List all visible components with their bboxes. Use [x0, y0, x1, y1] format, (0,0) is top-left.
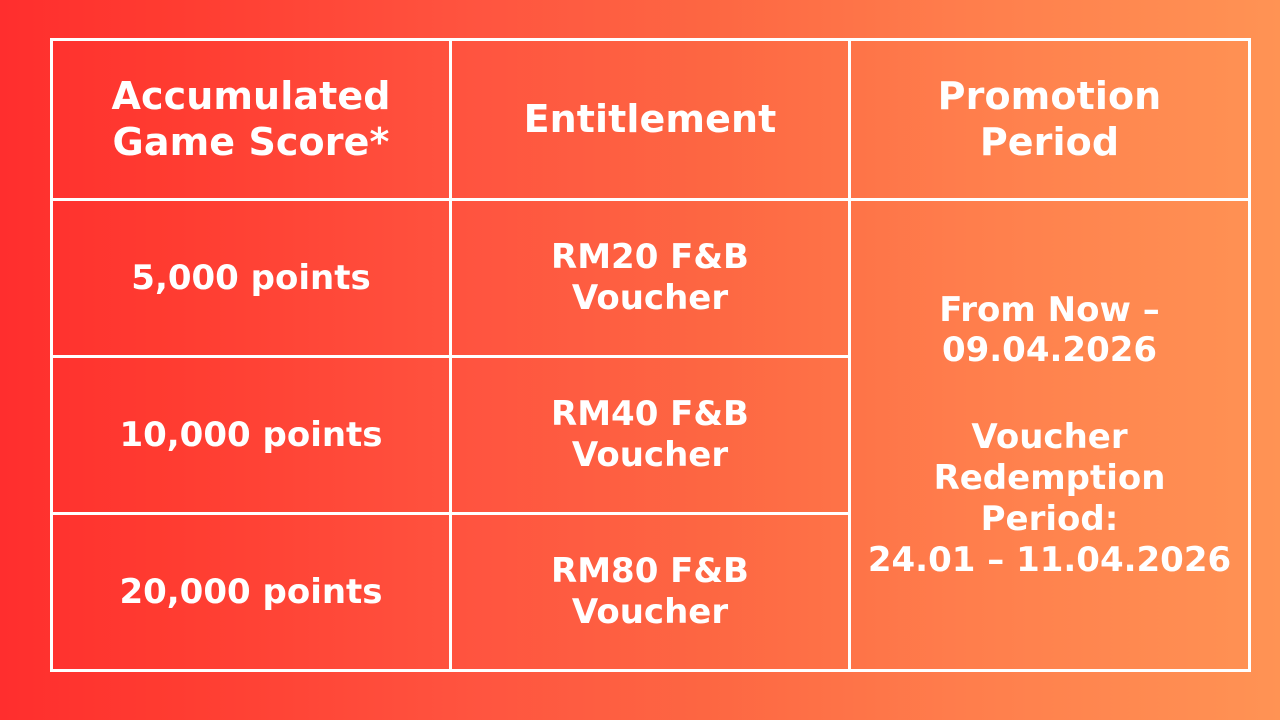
cell-score-tier-3: 20,000 points [52, 514, 451, 671]
table-row: 5,000 points RM20 F&B Voucher From Now –… [52, 200, 1250, 357]
entitlement-tier-3-line-1: RM80 F&B [464, 551, 836, 592]
header-score-line-1: Accumulated [65, 74, 437, 120]
cell-entitlement-tier-3: RM80 F&B Voucher [451, 514, 850, 671]
table-header-row: Accumulated Game Score* Entitlement Prom… [52, 40, 1250, 200]
promotion-dates-line-2: 09.04.2026 [863, 330, 1236, 371]
table-body: 5,000 points RM20 F&B Voucher From Now –… [52, 200, 1250, 671]
entitlement-tier-1-line-1: RM20 F&B [464, 237, 836, 278]
column-header-entitlement: Entitlement [451, 40, 850, 200]
cell-score-tier-1: 5,000 points [52, 200, 451, 357]
header-entitlement-line-1: Entitlement [464, 97, 836, 143]
entitlement-tier-1-line-2: Voucher [464, 278, 836, 319]
column-header-promotion-period: Promotion Period [850, 40, 1250, 200]
entitlement-tier-3-line-2: Voucher [464, 592, 836, 633]
entitlement-tier-2-line-1: RM40 F&B [464, 394, 836, 435]
header-period-line-1: Promotion Period [863, 74, 1236, 165]
redemption-line-3: Period: [863, 499, 1236, 540]
cell-score-tier-2: 10,000 points [52, 357, 451, 514]
column-header-accumulated-game-score: Accumulated Game Score* [52, 40, 451, 200]
promotion-dates-block: From Now – 09.04.2026 [863, 290, 1236, 372]
cell-promotion-period-merged: From Now – 09.04.2026 Voucher Redemption… [850, 200, 1250, 671]
header-score-line-2: Game Score* [65, 120, 437, 166]
entitlement-table: Accumulated Game Score* Entitlement Prom… [50, 38, 1251, 672]
promo-banner: Accumulated Game Score* Entitlement Prom… [0, 0, 1280, 720]
cell-entitlement-tier-1: RM20 F&B Voucher [451, 200, 850, 357]
redemption-line-1: Voucher [863, 417, 1236, 458]
redemption-period-block: Voucher Redemption Period: 24.01 – 11.04… [863, 417, 1236, 580]
entitlement-tier-2-line-2: Voucher [464, 435, 836, 476]
cell-entitlement-tier-2: RM40 F&B Voucher [451, 357, 850, 514]
promotion-period-spacer [863, 371, 1236, 417]
redemption-line-4: 24.01 – 11.04.2026 [863, 540, 1236, 581]
table-header: Accumulated Game Score* Entitlement Prom… [52, 40, 1250, 200]
promotion-dates-line-1: From Now – [863, 290, 1236, 331]
redemption-line-2: Redemption [863, 458, 1236, 499]
